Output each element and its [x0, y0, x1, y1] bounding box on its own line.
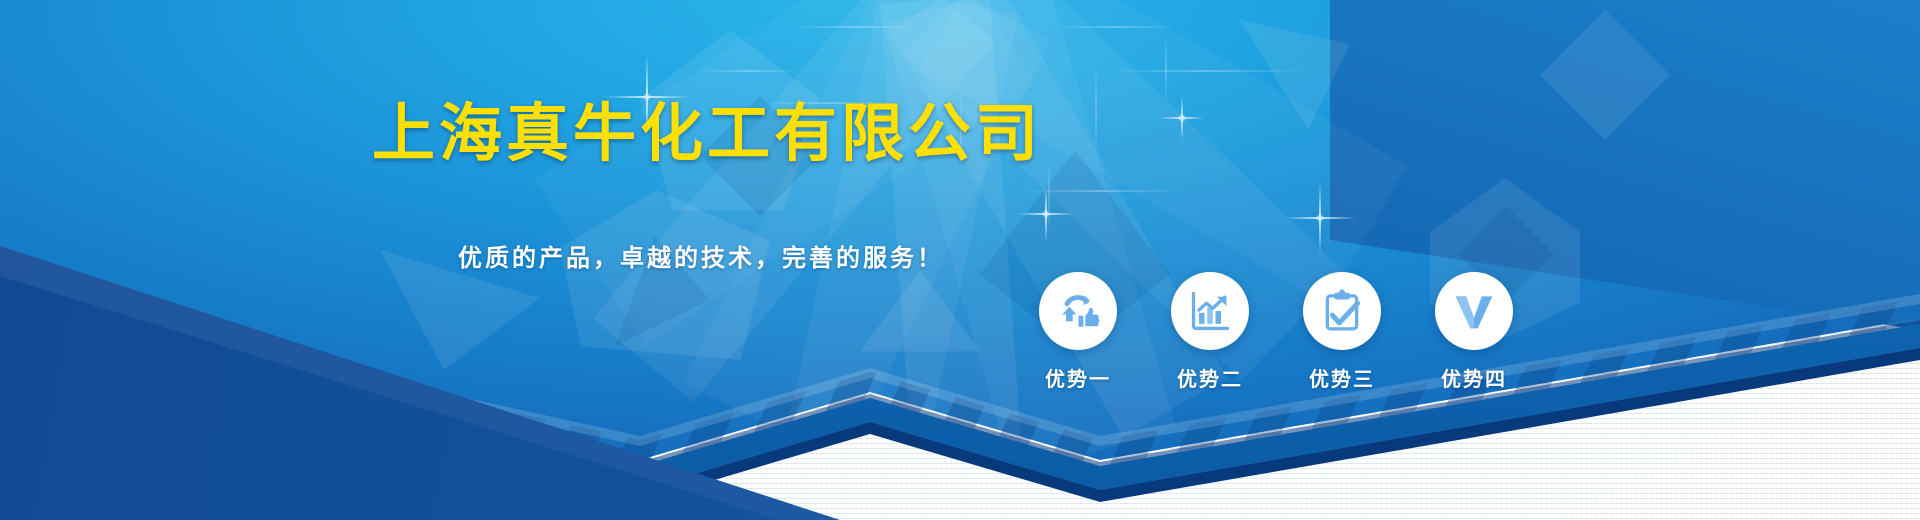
v-chevron-icon — [1452, 289, 1496, 333]
advantage-label-3: 优势三 — [1309, 363, 1375, 392]
company-title: 上海真牛化工有限公司 — [372, 95, 1042, 174]
company-slogan: 优质的产品，卓越的技术，完善的服务！ — [458, 238, 944, 273]
advantage-icon-circle-1[interactable] — [1039, 272, 1117, 350]
sparkle-icon — [1284, 182, 1356, 254]
advantage-item-1[interactable]: 优势一 — [1030, 272, 1126, 392]
advantage-icon-circle-2[interactable] — [1171, 272, 1249, 350]
company-hero-banner: 上海真牛化工有限公司 优质的产品，卓越的技术，完善的服务！ 优势一 — [0, 0, 1920, 520]
advantage-item-3[interactable]: 优势三 — [1294, 272, 1390, 392]
advantage-icon-circle-3[interactable] — [1303, 272, 1381, 350]
advantage-label-1: 优势一 — [1045, 363, 1111, 392]
sparkle-icon — [1018, 186, 1074, 242]
advantage-label-2: 优势二 — [1177, 363, 1243, 392]
advantages-list: 优势一 优势二 — [1030, 272, 1522, 392]
sparkle-icon — [1160, 96, 1204, 140]
advantage-item-2[interactable]: 优势二 — [1162, 272, 1258, 392]
refresh-thumbs-up-icon — [1055, 288, 1101, 334]
bar-chart-growth-icon — [1188, 289, 1232, 333]
advantage-item-4[interactable]: 优势四 — [1426, 272, 1522, 392]
clipboard-check-icon — [1320, 289, 1364, 333]
advantage-icon-circle-4[interactable] — [1435, 272, 1513, 350]
advantage-label-4: 优势四 — [1441, 363, 1507, 392]
